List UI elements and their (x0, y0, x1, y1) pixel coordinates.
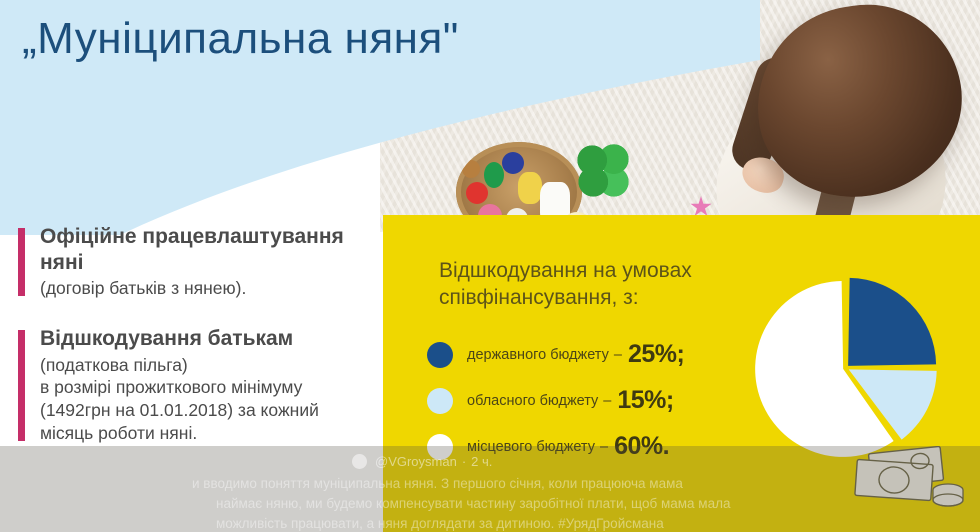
legend-value: 15%; (617, 386, 673, 415)
benefits-list: Офіційне працевлаштування няні (договір … (18, 224, 390, 471)
legend-item-regional-budget: обласного бюджету – 15%; (427, 386, 757, 415)
infographic-slide: „Муніципальна няня" Офіційне працевлашту… (0, 0, 980, 532)
legend-swatch-dark-blue (427, 342, 453, 368)
legend-dash: – (600, 439, 608, 455)
list-item-heading: Відшкодування батькам (40, 326, 390, 352)
accent-bar (18, 228, 25, 296)
page-title: „Муніципальна няня" (22, 14, 459, 64)
legend-item-state-budget: державного бюджету – 25%; (427, 340, 757, 369)
legend-value: 60%. (614, 432, 669, 461)
list-item-subtext: (договір батьків з нянею). (40, 277, 390, 300)
legend-label: місцевого бюджету (467, 439, 595, 455)
list-item-subtext: (податкова пільга) в розмірі прожитковог… (40, 354, 390, 445)
legend-label: обласного бюджету (467, 393, 598, 409)
legend-swatch-light-blue (427, 388, 453, 414)
banknotes-and-coins-icon (844, 446, 966, 522)
cofinancing-panel: Відшкодування на умовах співфінансування… (383, 215, 980, 532)
legend-dash: – (603, 393, 611, 409)
accent-bar (18, 330, 25, 441)
pie-legend: державного бюджету – 25%; обласного бюдж… (427, 340, 757, 478)
list-item: Офіційне працевлаштування няні (договір … (18, 224, 390, 300)
panel-heading: Відшкодування на умовах співфінансування… (439, 257, 789, 312)
legend-dash: – (614, 347, 622, 363)
legend-label: державного бюджету (467, 347, 609, 363)
pie-slice (848, 278, 936, 366)
list-item-heading: Офіційне працевлаштування няні (40, 224, 390, 275)
list-item: Відшкодування батькам (податкова пільга)… (18, 326, 390, 445)
budget-pie-chart (755, 277, 937, 459)
legend-swatch-white (427, 434, 453, 460)
legend-item-local-budget: місцевого бюджету – 60%. (427, 432, 757, 461)
legend-value: 25%; (628, 340, 684, 369)
